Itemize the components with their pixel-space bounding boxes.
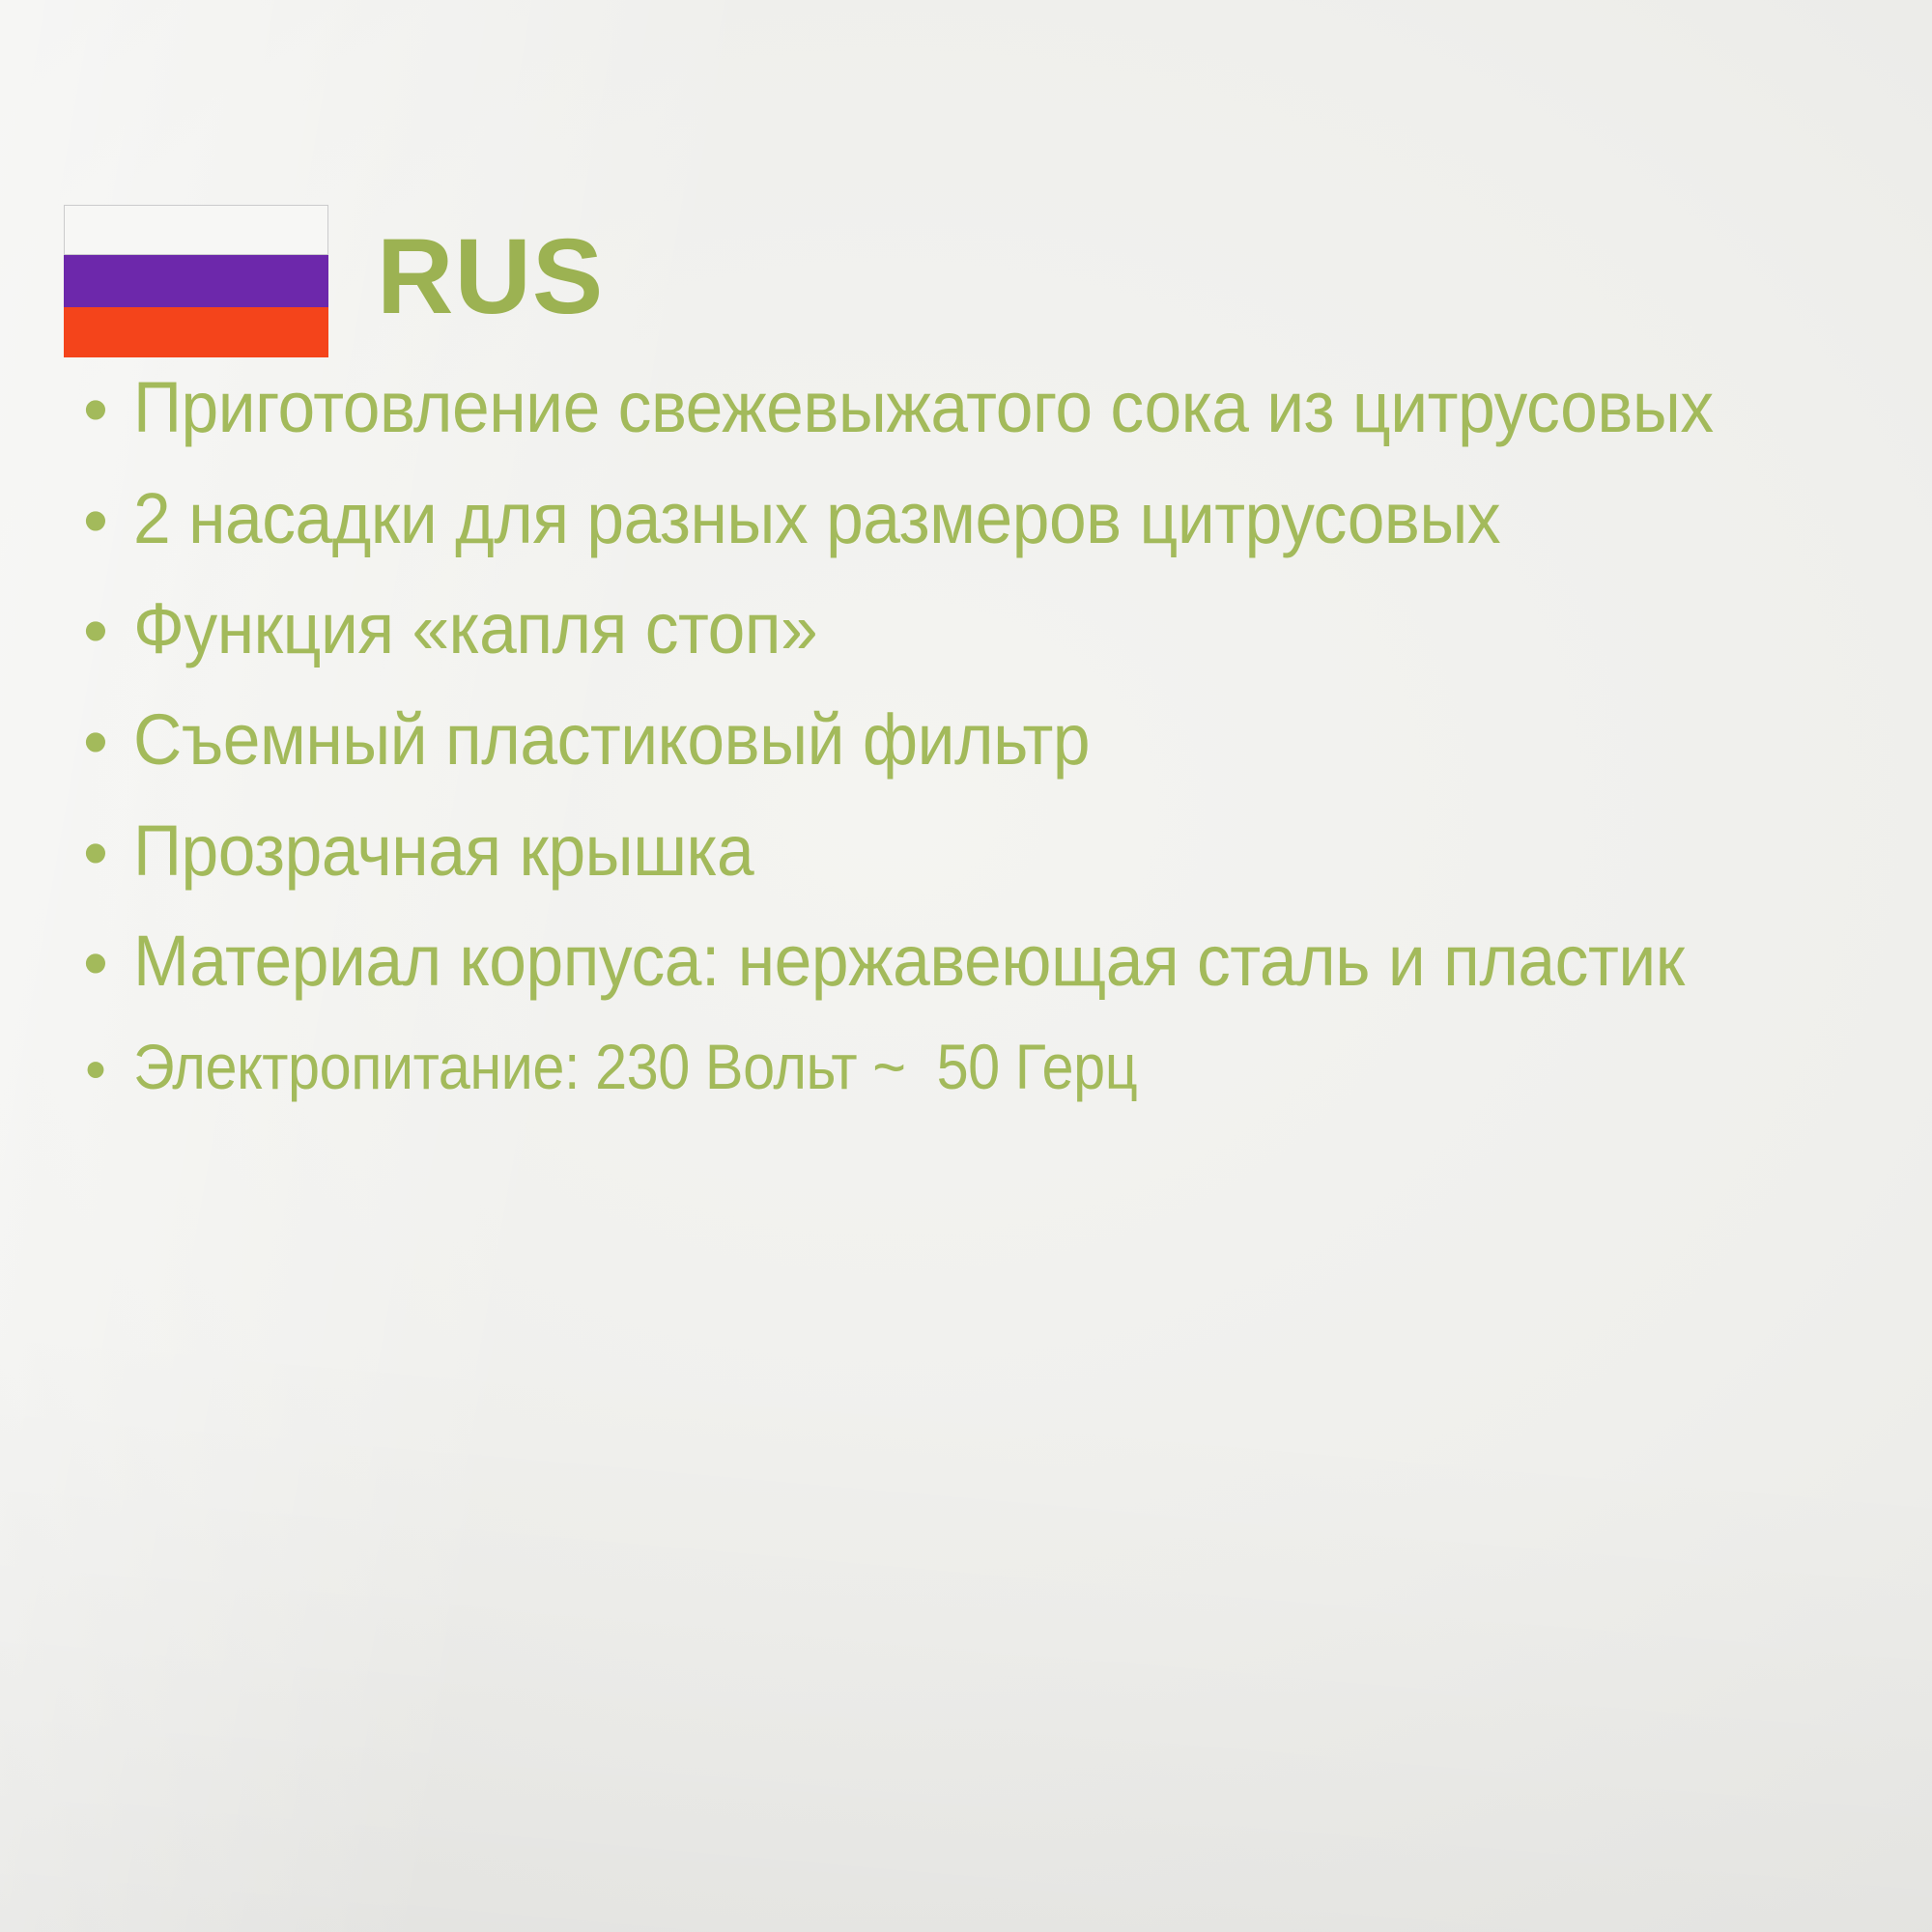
russian-flag-icon xyxy=(64,205,328,357)
feature-text: Электропитание: 230 Вольт ~ 50 Герц xyxy=(133,1024,1718,1111)
feature-list: •Приготовление свежевыжатого сока из цит… xyxy=(58,359,1893,1124)
feature-text: Функция «капля стоп» xyxy=(133,581,1788,678)
feature-list-item: •Материал корпуса: нержавеющая сталь и п… xyxy=(58,913,1893,1010)
bullet-point-icon: • xyxy=(58,805,133,902)
feature-list-item: •Функция «капля стоп» xyxy=(58,581,1893,678)
feature-text: Приготовление свежевыжатого сока из цитр… xyxy=(133,359,1788,457)
flag-band-blue xyxy=(64,255,328,307)
feature-text: Прозрачная крышка xyxy=(133,803,1788,900)
feature-list-item: •Электропитание: 230 Вольт ~ 50 Герц xyxy=(58,1024,1893,1111)
language-header: RUS xyxy=(64,205,604,357)
feature-text: 2 насадки для разных размеров цитрусовых xyxy=(133,470,1788,568)
bullet-point-icon: • xyxy=(58,472,133,570)
bullet-point-icon: • xyxy=(58,1030,133,1111)
bullet-point-icon: • xyxy=(58,361,133,459)
feature-text: Съемный пластиковый фильтр xyxy=(133,692,1788,789)
language-code-label: RUS xyxy=(377,224,604,330)
feature-list-item: •2 насадки для разных размеров цитрусовы… xyxy=(58,470,1893,568)
feature-list-item: •Съемный пластиковый фильтр xyxy=(58,692,1893,789)
feature-text: Материал корпуса: нержавеющая сталь и пл… xyxy=(133,913,1788,1010)
bullet-point-icon: • xyxy=(58,582,133,680)
product-feature-label: RUS •Приготовление свежевыжатого сока из… xyxy=(0,0,1932,1932)
bullet-point-icon: • xyxy=(58,694,133,791)
bullet-point-icon: • xyxy=(58,915,133,1012)
flag-band-red xyxy=(64,307,328,357)
flag-band-white xyxy=(64,205,328,255)
feature-list-item: •Прозрачная крышка xyxy=(58,803,1893,900)
feature-list-item: •Приготовление свежевыжатого сока из цит… xyxy=(58,359,1893,457)
